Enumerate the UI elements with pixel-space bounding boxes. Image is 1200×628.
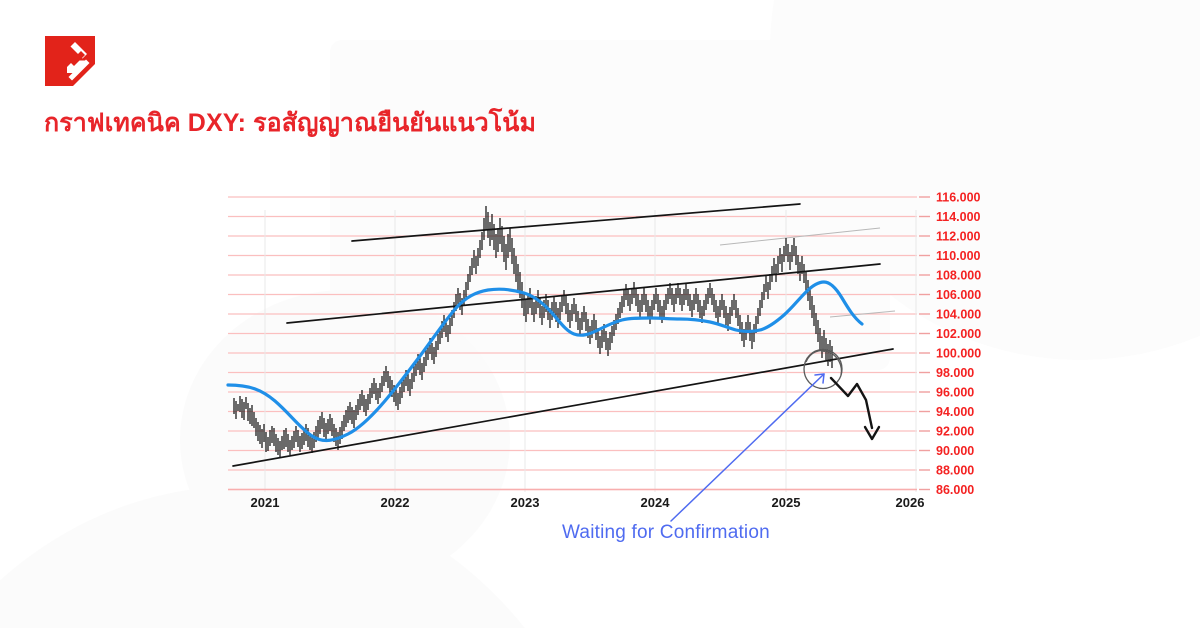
- x-tick-label: 2021: [251, 495, 280, 510]
- y-tick-label: 104.000: [936, 308, 981, 322]
- x-tick-label: 2022: [381, 495, 410, 510]
- channel-extensions: [720, 228, 895, 317]
- x-tick-label: 2026: [896, 495, 925, 510]
- moving-average-line: [228, 282, 862, 440]
- y-tick-label: 100.000: [936, 347, 981, 361]
- lower-channel-line: [233, 349, 893, 466]
- y-tick-label: 108.000: [936, 269, 981, 283]
- y-tick-label: 116.000: [936, 191, 981, 205]
- y-tick-label: 98.000: [936, 366, 974, 380]
- y-tick-label: 112.000: [936, 230, 981, 244]
- waiting-for-confirmation-arrow-icon: [671, 374, 824, 521]
- y-tick-label: 94.000: [936, 405, 974, 419]
- y-tick-label: 102.000: [936, 327, 981, 341]
- y-tick-label: 92.000: [936, 425, 974, 439]
- y-tick-label: 114.000: [936, 210, 981, 224]
- screenshot-root: กราฟเทคนิค DXY: รอสัญญาณยืนยันแนวโน้ม: [0, 0, 1200, 628]
- y-tick-label: 86.000: [936, 483, 974, 497]
- y-axis-tick-labels: 116.000 114.000 112.000 110.000 108.000 …: [936, 191, 981, 498]
- x-axis-tick-labels: 2021 2022 2023 2024 2025 2026: [251, 495, 925, 510]
- y-tick-label: 88.000: [936, 464, 974, 478]
- x-tick-label: 2025: [772, 495, 801, 510]
- y-axis-tick-marks: [919, 197, 930, 490]
- waiting-for-confirmation-label: Waiting for Confirmation: [562, 522, 770, 544]
- y-tick-label: 106.000: [936, 288, 981, 302]
- y-tick-label: 96.000: [936, 386, 974, 400]
- y-tick-label: 90.000: [936, 444, 974, 458]
- y-tick-label: 110.000: [936, 249, 981, 263]
- bearish-projection-arrow-icon: [831, 378, 879, 439]
- x-tick-label: 2024: [641, 495, 671, 510]
- x-tick-label: 2023: [511, 495, 540, 510]
- horizontal-gridlines: [228, 197, 917, 490]
